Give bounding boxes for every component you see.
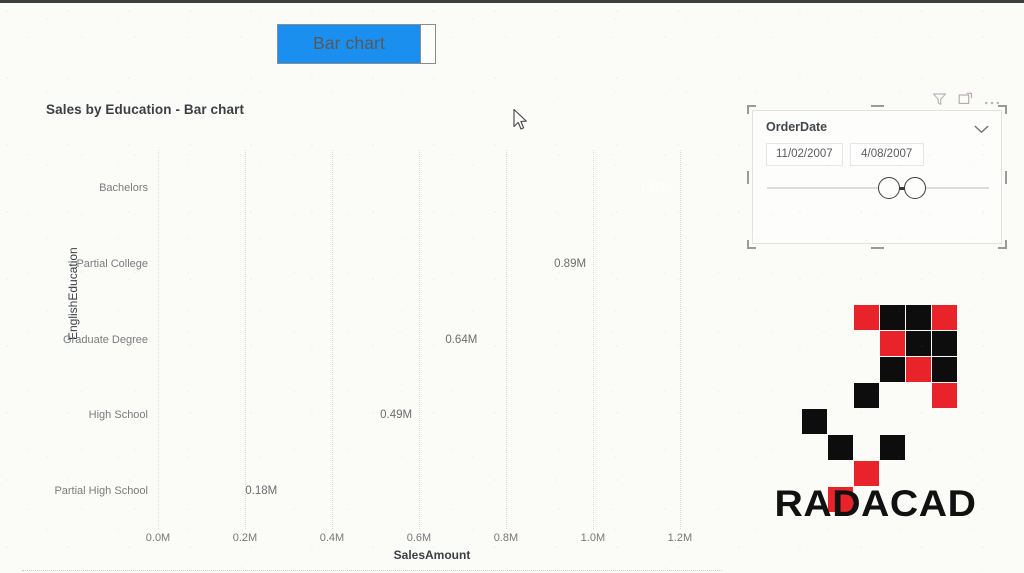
slicer-field-name: OrderDate	[766, 120, 827, 134]
bar-row[interactable]: Bachelors1.20M	[158, 157, 680, 218]
visual-header-icons	[932, 92, 1000, 111]
logo-square	[932, 383, 957, 408]
slider-handle-start[interactable]	[878, 177, 900, 199]
date-range-inputs: 11/02/2007 4/08/2007	[766, 143, 924, 166]
end-date-input[interactable]: 4/08/2007	[850, 143, 924, 166]
radacad-logo: RADACAD	[768, 305, 983, 530]
bar-value-label: 0.89M	[554, 258, 586, 270]
logo-square	[906, 331, 931, 356]
axis-baseline	[22, 570, 722, 571]
bar-value-label: 0.49M	[380, 409, 412, 421]
logo-square	[906, 305, 931, 330]
gridline	[680, 150, 681, 529]
filter-icon[interactable]	[932, 92, 947, 111]
x-tick-label: 0.8M	[494, 532, 518, 544]
slicer-body: OrderDate 11/02/2007 4/08/2007	[752, 110, 1002, 244]
logo-square	[802, 409, 827, 434]
bar-value-label: 0.64M	[445, 334, 477, 346]
x-tick-label: 0.0M	[146, 532, 170, 544]
sales-by-education-bar-chart[interactable]: Sales by Education - Bar chart EnglishEd…	[22, 92, 722, 572]
category-label: Bachelors	[99, 182, 148, 194]
start-date-input[interactable]: 11/02/2007	[766, 143, 843, 166]
logo-square	[932, 305, 957, 330]
chart-title: Sales by Education - Bar chart	[46, 102, 244, 117]
selection-handle-bl2	[747, 240, 749, 249]
bar-chart-button[interactable]: Bar chart	[277, 24, 421, 64]
category-label: Graduate Degree	[63, 334, 148, 346]
slider-handle-end[interactable]	[904, 177, 926, 199]
logo-square	[880, 435, 905, 460]
orderdate-slicer[interactable]: OrderDate 11/02/2007 4/08/2007	[752, 110, 1002, 244]
x-tick-label: 0.4M	[320, 532, 344, 544]
x-tick-label: 0.2M	[233, 532, 257, 544]
logo-wordmark: RADACAD	[762, 483, 990, 525]
focus-mode-icon[interactable]	[958, 92, 973, 111]
bar-row[interactable]: Graduate Degree0.64M	[158, 309, 436, 370]
bar-row[interactable]: Partial High School0.18M	[158, 461, 236, 522]
top-edge-strip	[0, 0, 1024, 3]
selection-handle-right[interactable]	[1005, 171, 1007, 184]
logo-square	[854, 305, 879, 330]
logo-square	[906, 357, 931, 382]
x-tick-label: 1.0M	[581, 532, 605, 544]
chart-type-button-group: Bar chart Column chart	[277, 24, 436, 64]
chevron-down-icon[interactable]	[974, 121, 989, 139]
x-axis-title: SalesAmount	[158, 548, 706, 562]
selection-handle-left[interactable]	[747, 171, 749, 184]
bar-value-label: 1.20M	[640, 182, 672, 194]
logo-square	[828, 435, 853, 460]
logo-square	[880, 305, 905, 330]
category-label: Partial College	[76, 258, 148, 270]
logo-square	[932, 357, 957, 382]
category-label: Partial High School	[54, 485, 148, 497]
logo-square	[880, 357, 905, 382]
logo-square	[932, 331, 957, 356]
more-options-icon[interactable]	[984, 93, 1000, 111]
x-tick-label: 1.2M	[668, 532, 692, 544]
bar-row[interactable]: Partial College0.89M	[158, 233, 545, 294]
logo-square	[854, 383, 879, 408]
category-label: High School	[89, 409, 148, 421]
x-axis-ticks: 0.0M0.2M0.4M0.6M0.8M1.0M1.2M	[158, 532, 706, 548]
bar-row[interactable]: High School0.49M	[158, 385, 371, 446]
plot-area: Bachelors1.20MPartial College0.89MGradua…	[158, 150, 706, 529]
bar-value-label: 0.18M	[245, 485, 277, 497]
selection-handle-top[interactable]	[871, 105, 884, 107]
selection-handle-tr2	[1005, 105, 1007, 114]
x-tick-label: 0.6M	[407, 532, 431, 544]
logo-square	[880, 331, 905, 356]
selection-handle-bottom[interactable]	[871, 247, 884, 249]
selection-handle-br2	[1005, 240, 1007, 249]
date-range-slider[interactable]	[767, 173, 989, 203]
selection-handle-tl2	[747, 105, 749, 114]
